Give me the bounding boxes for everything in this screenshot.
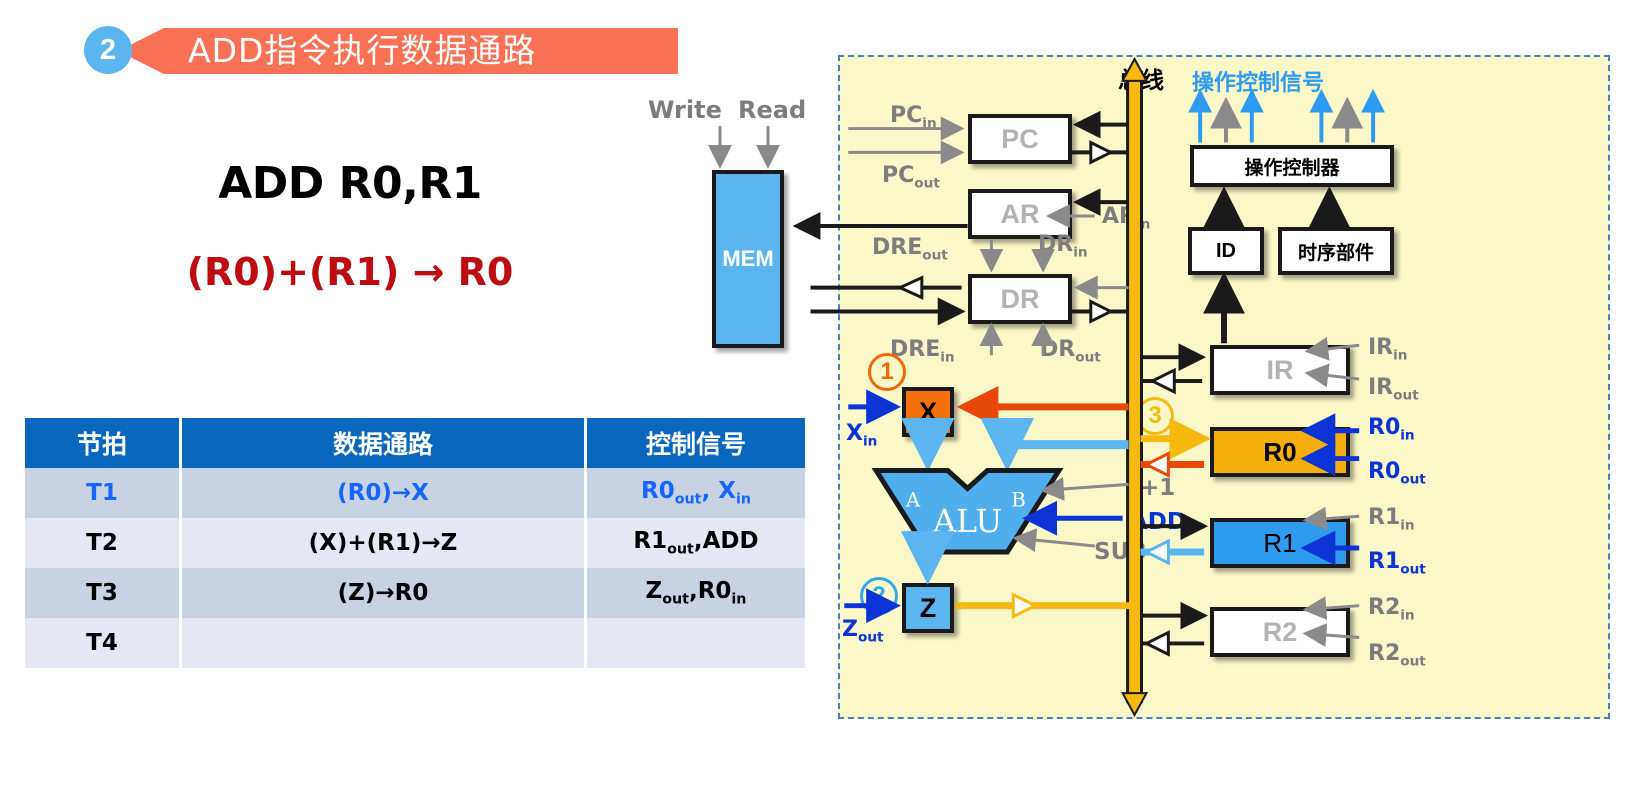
datapath-diagram: PC AR DR X Z IR R0 R1 R2 操作控制器 ID 时序部件 总… — [838, 55, 1610, 719]
table-body: T1(R0)→XR0out, XinT2(X)+(R1)→ZR1out,ADDT… — [25, 468, 805, 668]
cell-datapath: (R0)→X — [181, 468, 586, 518]
cell-datapath: (X)+(R1)→Z — [181, 518, 586, 568]
cell-datapath — [181, 618, 586, 668]
step-badge: 2 — [84, 26, 132, 74]
table-row: T4 — [25, 618, 805, 668]
table-row: T1(R0)→XR0out, Xin — [25, 468, 805, 518]
cell-signals — [586, 618, 806, 668]
cell-beat: T3 — [25, 568, 181, 618]
cell-signals: Zout,R0in — [586, 568, 806, 618]
timing-table: 节拍 数据通路 控制信号 T1(R0)→XR0out, XinT2(X)+(R1… — [25, 418, 805, 668]
table-header-row: 节拍 数据通路 控制信号 — [25, 418, 805, 468]
table-row: T2(X)+(R1)→ZR1out,ADD — [25, 518, 805, 568]
page-title: ADD指令执行数据通路 — [188, 30, 708, 72]
cell-datapath: (Z)→R0 — [181, 568, 586, 618]
svg-text:B: B — [1011, 488, 1026, 511]
cell-signals: R1out,ADD — [586, 518, 806, 568]
diagram-wires: A B ALU — [840, 57, 1608, 717]
formula-text: (R0)+(R1) → R0 — [0, 250, 700, 294]
svg-text:ALU: ALU — [932, 503, 1002, 540]
cell-beat: T2 — [25, 518, 181, 568]
table-row: T3(Z)→R0Zout,R0in — [25, 568, 805, 618]
column-header-signals: 控制信号 — [586, 418, 806, 468]
column-header-beat: 节拍 — [25, 418, 181, 468]
cell-signals: R0out, Xin — [586, 468, 806, 518]
cell-beat: T4 — [25, 618, 181, 668]
instruction-text: ADD R0,R1 — [0, 158, 700, 209]
cell-beat: T1 — [25, 468, 181, 518]
memory-wires — [620, 90, 840, 380]
svg-text:A: A — [905, 488, 921, 511]
column-header-datapath: 数据通路 — [181, 418, 586, 468]
